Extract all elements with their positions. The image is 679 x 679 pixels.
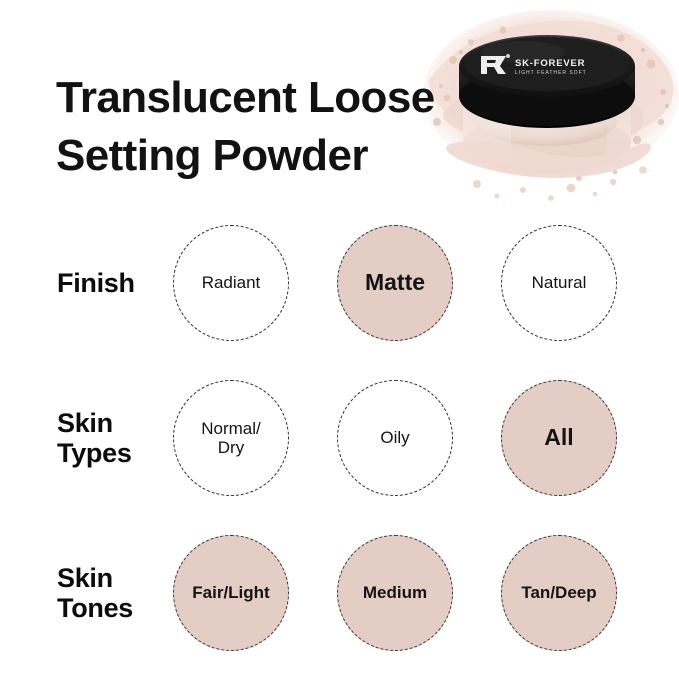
option-matte[interactable]: Matte <box>337 225 453 341</box>
page-title-line-1: Translucent Loose <box>56 69 476 127</box>
row-label-skin-tones: Skin Tones <box>57 563 133 623</box>
svg-text:LIGHT FEATHER SOFT: LIGHT FEATHER SOFT <box>515 70 587 76</box>
row-label-finish: Finish <box>57 268 135 298</box>
option-medium[interactable]: Medium <box>337 535 453 651</box>
option-medium-label: Medium <box>359 583 431 602</box>
option-normal-dry[interactable]: Normal/ Dry <box>173 380 289 496</box>
option-normal-dry-label: Normal/ Dry <box>197 419 265 457</box>
product-brand-lockup: SK-FOREVER LIGHT FEATHER SOFT <box>481 54 587 76</box>
attribute-row-skin-tones: Skin Tones Fair/Light Medium Tan/Deep <box>0 515 679 670</box>
option-oily[interactable]: Oily <box>337 380 453 496</box>
option-natural-label: Natural <box>528 273 591 292</box>
option-fair-light[interactable]: Fair/Light <box>173 535 289 651</box>
option-fair-light-label: Fair/Light <box>188 583 273 602</box>
page-title: Translucent Loose Setting Powder <box>56 69 476 185</box>
attribute-row-skin-types: Skin Types Normal/ Dry Oily All <box>0 360 679 515</box>
page-title-line-2: Setting Powder <box>56 127 476 185</box>
option-matte-label: Matte <box>361 273 429 292</box>
attribute-row-finish: Finish Radiant Matte Natural <box>0 205 679 360</box>
option-all-label: All <box>540 428 577 447</box>
option-tan-deep[interactable]: Tan/Deep <box>501 535 617 651</box>
svg-text:SK-FOREVER: SK-FOREVER <box>515 58 585 69</box>
option-radiant-label: Radiant <box>198 273 265 292</box>
infographic-canvas: SK-FOREVER LIGHT FEATHER SOFT Translucen… <box>0 0 679 679</box>
option-radiant[interactable]: Radiant <box>173 225 289 341</box>
option-tan-deep-label: Tan/Deep <box>517 583 600 602</box>
row-label-skin-types: Skin Types <box>57 408 132 468</box>
option-oily-label: Oily <box>376 428 413 447</box>
option-natural[interactable]: Natural <box>501 225 617 341</box>
option-all[interactable]: All <box>501 380 617 496</box>
attribute-grid: Finish Radiant Matte Natural Skin Types … <box>0 205 679 670</box>
